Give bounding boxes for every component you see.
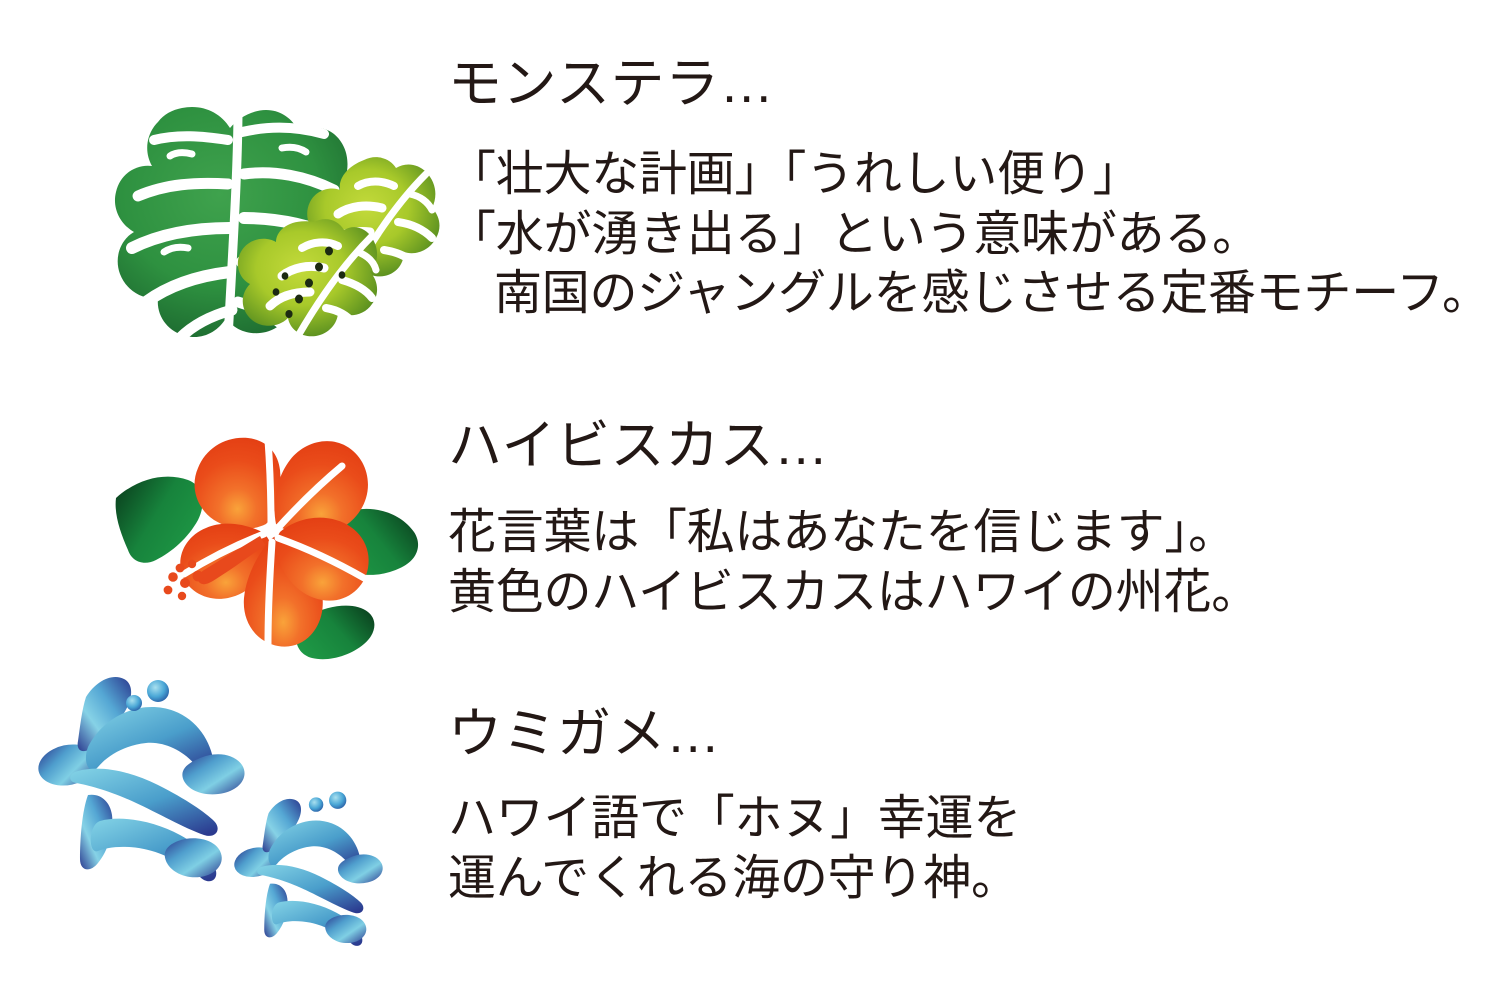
hibiscus-body-line-2: 黄色のハイビスカスはハワイの州花。 [448,563,1259,623]
hibiscus-body-line-1: 花言葉は「私はあなたを信じます」。 [448,503,1259,563]
turtle-heading: ウミガメ… [448,706,1021,763]
monstera-heading: モンステラ… [448,56,1490,113]
bubble [329,792,346,809]
turtle-body-line-1: ハワイ語で「ホヌ」幸運を [448,789,1021,849]
hibiscus-flower-illustration [110,420,430,670]
bubble [309,797,323,811]
monstera-text-block: モンステラ… 「壮大な計画」「うれしい便り」 「水が湧き出る」という意味がある。… [448,56,1490,324]
hibiscus-text-block: ハイビスカス… 花言葉は「私はあなたを信じます」。 黄色のハイビスカスはハワイの… [448,418,1259,622]
monstera-body-line-3: 南国のジャングルを感じさせる定番モチーフ。 [448,264,1490,324]
turtle-text-block: ウミガメ… ハワイ語で「ホヌ」幸運を 運んでくれる海の守り神。 [448,706,1021,908]
sea-turtle-large [34,677,244,881]
bubble [147,680,169,702]
hibiscus-heading: ハイビスカス… [448,418,1259,475]
sea-turtle-small [231,792,382,946]
monstera-body-line-2: 「水が湧き出る」という意味がある。 [448,205,1490,265]
monstera-body-line-1: 「壮大な計画」「うれしい便り」 [448,145,1490,205]
page-root: モンステラ… 「壮大な計画」「うれしい便り」 「水が湧き出る」という意味がある。… [0,0,1495,1000]
turtle-body-line-2: 運んでくれる海の守り神。 [448,849,1021,909]
monstera-leaves-illustration [42,100,442,380]
sea-turtle-illustration [38,655,408,945]
bubble [126,695,142,711]
